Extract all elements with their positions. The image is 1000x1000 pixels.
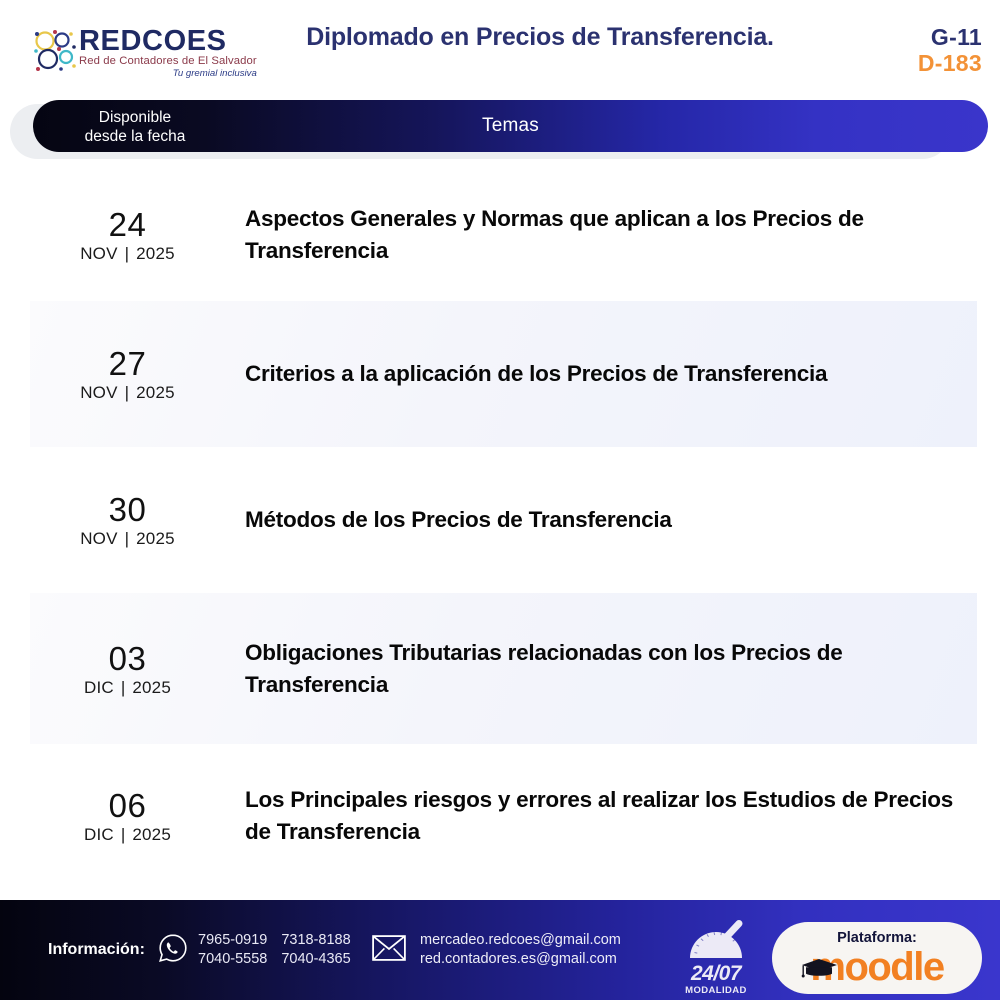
logo-wordmark: REDCOES xyxy=(79,26,257,56)
row-date: 27 NOV | 2025 xyxy=(0,345,245,403)
row-date-month: NOV xyxy=(80,383,117,402)
row-date: 06 DIC | 2025 xyxy=(0,787,245,845)
row-topic: Criterios a la aplicación de los Precios… xyxy=(245,358,1000,390)
row-date-month-year: DIC | 2025 xyxy=(10,824,245,845)
row-topic: Métodos de los Precios de Transferencia xyxy=(245,504,1000,536)
footer-phone-col-1: 7965-0919 7040-5558 xyxy=(198,931,267,969)
table-row: 27 NOV | 2025 Criterios a la aplicación … xyxy=(0,301,1000,447)
table-row: 30 NOV | 2025 Métodos de los Precios de … xyxy=(0,447,1000,593)
code-diploma: D-183 xyxy=(918,50,982,76)
row-date: 03 DIC | 2025 xyxy=(0,640,245,698)
row-date-month-year: NOV | 2025 xyxy=(10,528,245,549)
row-date-day: 03 xyxy=(10,640,245,677)
speedometer-check-icon xyxy=(672,918,760,965)
row-date-day: 24 xyxy=(10,206,245,243)
table-row: 06 DIC | 2025 Los Principales riesgos y … xyxy=(0,744,1000,888)
row-date: 30 NOV | 2025 xyxy=(0,491,245,549)
row-date-year: 2025 xyxy=(136,383,175,402)
row-date-month: DIC xyxy=(84,678,114,697)
row-date-month: DIC xyxy=(84,825,114,844)
row-date-month-year: DIC | 2025 xyxy=(10,677,245,698)
footer-phone-3: 7318-8188 xyxy=(281,931,350,950)
badge-caption: MODALIDAD xyxy=(672,985,760,996)
row-date-month: NOV xyxy=(80,529,117,548)
row-date-day: 27 xyxy=(10,345,245,382)
footer-phone-4: 7040-4365 xyxy=(281,950,350,969)
footer-email-2: red.contadores.es@gmail.com xyxy=(420,950,621,969)
row-topic: Obligaciones Tributarias relacionadas co… xyxy=(245,637,1000,701)
footer-info-label: Información: xyxy=(48,941,145,959)
row-topic: Aspectos Generales y Normas que aplican … xyxy=(245,203,1000,267)
table-header-bar: Temas Disponible desde la fecha xyxy=(33,100,988,152)
column-header-date-line1: Disponible xyxy=(60,108,210,127)
row-date-year: 2025 xyxy=(136,244,175,263)
footer-phone-col-2: 7318-8188 7040-4365 xyxy=(281,931,350,969)
page-header: REDCOES Red de Contadores de El Salvador… xyxy=(0,0,1000,96)
row-date-year: 2025 xyxy=(132,678,171,697)
course-codes: G-11 D-183 xyxy=(918,24,982,76)
logo-tagline: Tu gremial inclusiva xyxy=(79,68,257,79)
platform-label: Plataforma: xyxy=(772,930,982,946)
table-row: 03 DIC | 2025 Obligaciones Tributarias r… xyxy=(0,593,1000,744)
footer-phone-1: 7965-0919 xyxy=(198,931,267,950)
row-date-separator: | xyxy=(123,383,132,402)
row-date-year: 2025 xyxy=(136,529,175,548)
graduation-cap-icon xyxy=(800,958,840,980)
logo-subtitle: Red de Contadores de El Salvador xyxy=(79,55,257,68)
column-header-date: Disponible desde la fecha xyxy=(60,108,210,146)
row-date-month: NOV xyxy=(80,244,117,263)
topics-table: 24 NOV | 2025 Aspectos Generales y Norma… xyxy=(0,168,1000,888)
row-date-separator: | xyxy=(123,529,132,548)
availability-badge: 24/07 MODALIDAD xyxy=(672,918,760,996)
row-date-day: 30 xyxy=(10,491,245,528)
badge-number: 24/07 xyxy=(672,963,760,985)
code-group: G-11 xyxy=(918,24,982,50)
footer-emails: mercadeo.redcoes@gmail.com red.contadore… xyxy=(420,931,621,969)
row-date-separator: | xyxy=(119,678,128,697)
row-date-separator: | xyxy=(119,825,128,844)
footer-phone-numbers: 7965-0919 7040-5558 7318-8188 7040-4365 xyxy=(198,931,351,969)
footer-phone-2: 7040-5558 xyxy=(198,950,267,969)
redcoes-logo: REDCOES Red de Contadores de El Salvador… xyxy=(33,26,265,84)
table-row: 24 NOV | 2025 Aspectos Generales y Norma… xyxy=(0,168,1000,301)
column-header-date-line2: desde la fecha xyxy=(60,127,210,146)
row-date-day: 06 xyxy=(10,787,245,824)
platform-badge[interactable]: Plataforma: moodle xyxy=(772,922,982,994)
row-date: 24 NOV | 2025 xyxy=(0,206,245,264)
redcoes-circles-logo-icon xyxy=(33,29,77,73)
row-date-year: 2025 xyxy=(132,825,171,844)
whatsapp-icon xyxy=(158,933,188,963)
row-date-separator: | xyxy=(123,244,132,263)
footer-email-1: mercadeo.redcoes@gmail.com xyxy=(420,931,621,950)
envelope-icon xyxy=(372,935,406,961)
page-title: Diplomado en Precios de Transferencia. xyxy=(300,22,780,53)
row-topic: Los Principales riesgos y errores al rea… xyxy=(245,784,1000,848)
row-date-month-year: NOV | 2025 xyxy=(10,382,245,403)
row-date-month-year: NOV | 2025 xyxy=(10,243,245,264)
